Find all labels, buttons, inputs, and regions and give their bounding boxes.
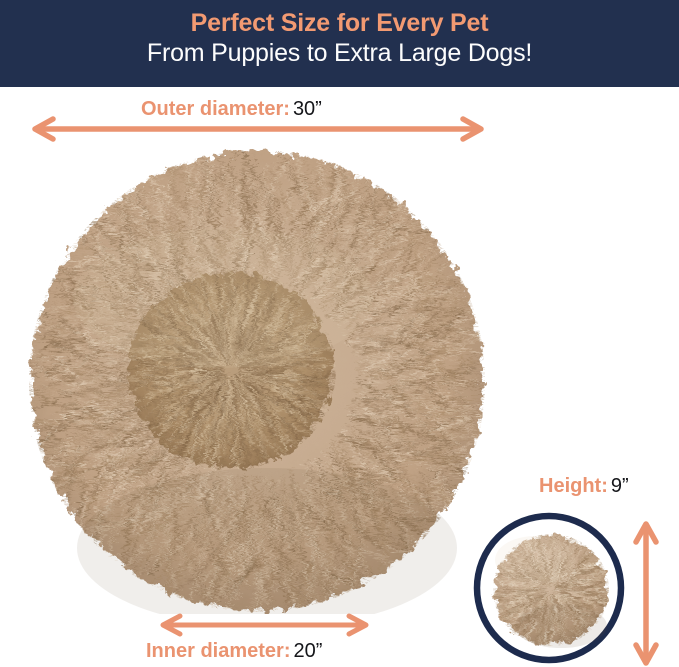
pet-bed-side-view-inset <box>473 508 625 667</box>
page-title: Perfect Size for Every Pet <box>0 0 679 37</box>
product-size-infographic: Perfect Size for Every Pet From Puppies … <box>0 0 679 667</box>
height-value: 9” <box>611 475 629 497</box>
outer-diameter-label: Outer diameter:30” <box>141 99 322 119</box>
header-banner: Perfect Size for Every Pet From Puppies … <box>0 0 679 87</box>
inner-diameter-arrow-icon <box>158 614 371 636</box>
pet-bed-top-view-image <box>27 148 487 614</box>
inner-diameter-value: 20” <box>293 640 322 662</box>
height-label: Height:9” <box>539 476 629 496</box>
inner-diameter-label: Inner diameter:20” <box>146 641 322 661</box>
height-term: Height: <box>539 475 608 497</box>
inner-diameter-term: Inner diameter: <box>146 640 290 662</box>
page-subtitle: From Puppies to Extra Large Dogs! <box>0 37 679 67</box>
outer-diameter-arrow-icon <box>29 117 487 141</box>
height-arrow-icon <box>631 518 661 666</box>
